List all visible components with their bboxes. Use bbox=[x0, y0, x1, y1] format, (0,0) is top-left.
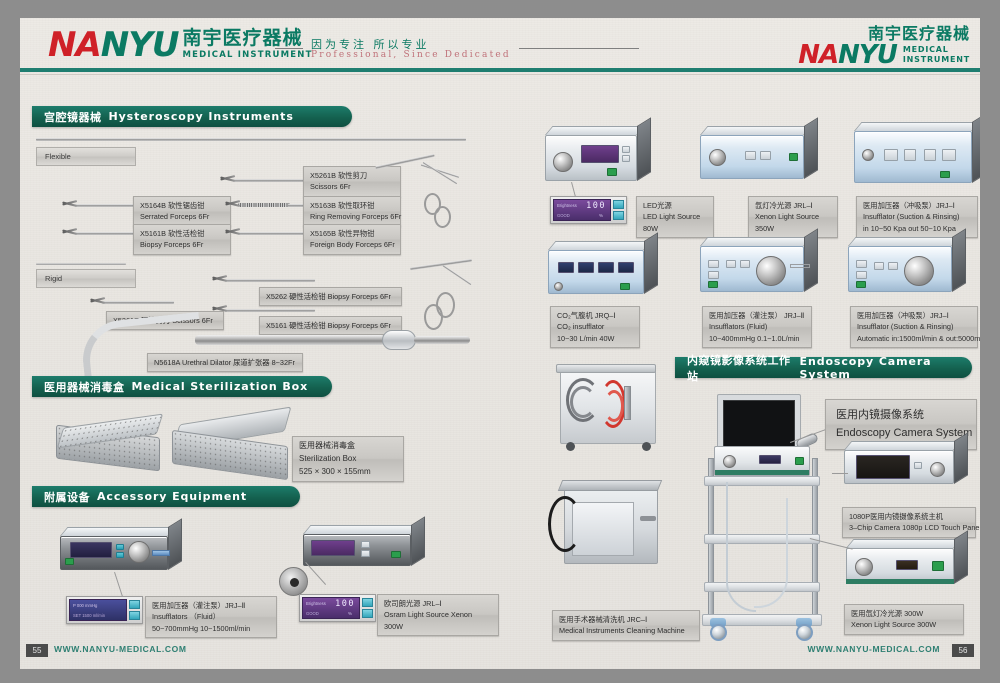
caption-1080p-camera: 1080P医用内镜摄像系统主机 3–Chip Camera 1080p LCD … bbox=[842, 507, 976, 538]
camera-port-icon bbox=[930, 462, 945, 477]
device-knob bbox=[855, 558, 873, 576]
equipment-trolley bbox=[700, 458, 830, 638]
roller-pump-icon bbox=[756, 256, 786, 286]
jaw-icon bbox=[212, 304, 228, 313]
trolley-device bbox=[714, 446, 810, 476]
device-screen bbox=[311, 540, 355, 556]
device-led-light-source bbox=[545, 135, 637, 181]
power-led-icon bbox=[789, 153, 798, 161]
tag-flexible: Flexible bbox=[36, 147, 136, 166]
caption-x5262: X5262 硬性活检钳 Biopsy Forceps 6Fr bbox=[259, 287, 402, 306]
device-screen bbox=[581, 145, 619, 163]
banner-hysteroscopy: 宫腔镜器械 Hysteroscopy Instruments bbox=[32, 106, 352, 127]
power-led-icon bbox=[65, 558, 74, 565]
device-screen bbox=[896, 560, 918, 570]
sterilization-box-closed bbox=[54, 421, 164, 473]
caption-insufflator-fluid: 医用加压器（灌注泵） JRJ–Ⅱ Insufflators (Fluid) 10… bbox=[702, 306, 812, 348]
banner-accessory: 附属设备 Accessory Equipment bbox=[32, 486, 300, 507]
sterilization-box-open bbox=[170, 416, 295, 478]
jaw-icon bbox=[90, 296, 106, 305]
page-header: NANYU 南宇医疗器械 MEDICAL INSTRUMENT 因为专注 所以专… bbox=[20, 18, 980, 78]
page-number-left: 55 bbox=[26, 644, 48, 657]
device-auto-suction-rinsing bbox=[848, 246, 952, 292]
caption-x5163b: X5163B 软性取环钳 Ring Removing Forceps 6Fr bbox=[303, 196, 401, 227]
banner-camera-system: 内窥镜影像系统工作站 Endoscopy Camera System bbox=[675, 357, 972, 378]
instrument-shaft-rigid-top bbox=[36, 263, 126, 265]
device-screen bbox=[70, 542, 112, 558]
pump-tube-icon bbox=[790, 264, 810, 268]
logo-left: NANYU 南宇医疗器械 MEDICAL INSTRUMENT bbox=[48, 28, 313, 62]
power-led-icon bbox=[932, 561, 944, 571]
device-knob bbox=[553, 152, 573, 172]
caption-co2-insufflator: CO₂气腹机 JRQ–Ⅰ CO₂ insufflator 10~30 L/min… bbox=[550, 306, 640, 348]
device-1080p-camera bbox=[844, 450, 954, 484]
slogan-block: 因为专注 所以专业 Professional, Since Dedicated bbox=[275, 36, 639, 60]
caption-accessory-insufflator: 医用加压器（灌注泵）JRJ–Ⅱ Insufflators （Fluid） 50~… bbox=[145, 596, 277, 638]
brand-sub-en-right: MEDICAL INSTRUMENT bbox=[903, 45, 970, 68]
caption-xenon-light-source: 氙灯冷光源 JRL–Ⅰ Xenon Light Source 350W bbox=[748, 196, 838, 238]
power-led-icon bbox=[607, 168, 617, 176]
slogan-en: Professional, Since Dedicated bbox=[311, 50, 511, 60]
device-knob bbox=[709, 149, 726, 166]
page-sheet: NANYU 南宇医疗器械 MEDICAL INSTRUMENT 因为专注 所以专… bbox=[20, 18, 980, 669]
device-insufflator-fluid bbox=[60, 536, 168, 570]
nanyu-wordmark: NANYU bbox=[48, 28, 178, 62]
caption-led-light-source: LED光源 LED Light Source 80W bbox=[636, 196, 714, 238]
footer-url-right[interactable]: WWW.NANYU-MEDICAL.COM bbox=[807, 644, 940, 654]
jaw-icon bbox=[225, 227, 241, 236]
ring-handle-icon bbox=[424, 304, 443, 330]
tag-rigid: Rigid bbox=[36, 269, 136, 288]
device-knob bbox=[554, 282, 563, 291]
logo-right: 南宇医疗器械 NANYU MEDICAL INSTRUMENT bbox=[798, 26, 970, 68]
power-led-icon bbox=[708, 281, 718, 288]
spray-gun-icon bbox=[624, 386, 631, 420]
black-hose-icon bbox=[548, 496, 582, 552]
page-footer: 55 WWW.NANYU-MEDICAL.COM WWW.NANYU-MEDIC… bbox=[20, 639, 980, 669]
jaw-icon bbox=[225, 199, 241, 208]
caption-n5618a: N5618A Urethral Dilator 尿道扩张器 8~32Fr bbox=[147, 353, 303, 372]
power-led-icon bbox=[620, 283, 630, 290]
slogan-rule-left bbox=[275, 48, 303, 49]
catalog-page: NANYU 南宇医疗器械 MEDICAL INSTRUMENT 因为专注 所以专… bbox=[0, 0, 1000, 683]
device-insufflator-suction-rinsing bbox=[854, 131, 972, 183]
device-insufflator-fluid-roller bbox=[700, 246, 804, 292]
jaw-icon bbox=[62, 199, 78, 208]
caption-accessory-light-source: 欧司朗光源 JRL–Ⅰ Osram Light Source Xenon 300… bbox=[377, 594, 499, 636]
header-rule bbox=[20, 68, 980, 72]
device-co2-insufflator bbox=[548, 250, 644, 294]
footer-url-left[interactable]: WWW.NANYU-MEDICAL.COM bbox=[54, 644, 187, 654]
jaw-icon bbox=[212, 274, 228, 283]
device-knob bbox=[128, 541, 150, 563]
caption-x5164b: X5164B 软性锯齿钳 Serrated Forceps 6Fr bbox=[133, 196, 231, 227]
slogan-rule-right bbox=[519, 48, 639, 49]
device-xenon-light-source bbox=[700, 135, 804, 179]
power-led-icon bbox=[391, 551, 401, 558]
device-osram-light-source bbox=[303, 534, 411, 566]
fiber-coupler-icon bbox=[279, 567, 308, 596]
power-led-icon bbox=[940, 171, 950, 178]
caption-auto-suction-rinsing: 医用加压器（冲吸泵）JRJ–Ⅰ Insufflator (Suction & R… bbox=[850, 306, 978, 348]
page-number-right: 56 bbox=[952, 644, 974, 657]
jaw-icon bbox=[62, 227, 78, 236]
trolley-tube bbox=[726, 482, 756, 612]
instrument-shaft-top bbox=[36, 138, 466, 141]
lcd-inset-led: Brightness 100 GOOD % bbox=[550, 196, 627, 224]
device-xenon-300w bbox=[846, 548, 954, 584]
header-rule-thin bbox=[20, 74, 980, 75]
lcd-inset-insufflator: P 000 mmHg SET 1500 ml/min bbox=[66, 596, 143, 624]
caption-sterilization-box: 医用器械消毒盒 Sterilization Box 525 × 300 × 15… bbox=[292, 436, 404, 482]
jaw-icon bbox=[220, 174, 236, 183]
device-cleaning-cart bbox=[550, 364, 670, 464]
caption-x5261b: X5261B 软性剪刀 Scissors 6Fr bbox=[303, 166, 401, 197]
lcd-inset-light-source: Brightness 100 GOOD % bbox=[299, 594, 376, 622]
ring-handle-icon bbox=[434, 206, 451, 228]
power-led-icon bbox=[856, 281, 866, 288]
nanyu-wordmark-right: NANYU bbox=[798, 42, 897, 68]
banner-sterilization: 医用器械消毒盒 Medical Sterilization Box bbox=[32, 376, 332, 397]
caption-x5161b: X5161B 软性活检钳 Biopsy Forceps 6Fr bbox=[133, 224, 231, 255]
caption-x5161: X5161 硬性活检钳 Biopsy Forceps 6Fr bbox=[259, 316, 402, 335]
leader-line bbox=[832, 473, 848, 474]
touch-panel-screen bbox=[856, 455, 910, 479]
caption-xenon-300w: 医用氙灯冷光源 300W Xenon Light Source 300W bbox=[844, 604, 964, 635]
caption-cleaning-machine: 医用手术器械清洗机 JRC–Ⅰ Medical Instruments Clea… bbox=[552, 610, 700, 641]
roller-pump-icon bbox=[904, 256, 934, 286]
caption-x5165b: X5165B 软性异物钳 Foreign Body Forceps 6Fr bbox=[303, 224, 401, 255]
leader-line bbox=[114, 572, 123, 597]
device-cleaning-machine bbox=[556, 480, 666, 570]
device-knob bbox=[862, 149, 874, 161]
